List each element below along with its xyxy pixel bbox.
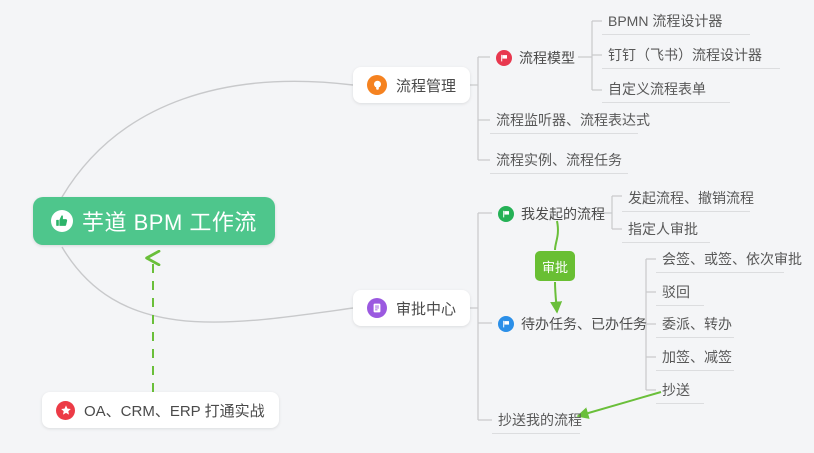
leaf-label-assign-approver: 指定人审批: [628, 219, 698, 239]
branch-label-process-management: 流程管理: [396, 75, 456, 96]
leaf-reject[interactable]: 驳回: [656, 279, 704, 306]
node-label-todo-done-tasks: 待办任务、已办任务: [521, 314, 647, 334]
leaf-label-delegate-transfer: 委派、转办: [662, 314, 732, 334]
leaf-countersign[interactable]: 会签、或签、依次审批: [656, 246, 784, 273]
leaf-label-bpmn-designer: BPMN 流程设计器: [608, 11, 722, 31]
thumbs-up-icon: [51, 210, 73, 232]
leaf-label-countersign: 会签、或签、依次审批: [662, 249, 802, 269]
mindmap-canvas: 芋道 BPM 工作流 OA、CRM、ERP 打通实战 流程管理 流程模型: [0, 0, 814, 453]
node-my-initiated[interactable]: 我发起的流程: [494, 200, 609, 227]
leaf-dingtalk-designer[interactable]: 钉钉（飞书）流程设计器: [602, 42, 780, 69]
annotation-tag-approve[interactable]: 审批: [535, 251, 575, 281]
leaf-add-remove-sign[interactable]: 加签、减签: [656, 344, 734, 371]
note-node[interactable]: OA、CRM、ERP 打通实战: [42, 392, 279, 428]
leaf-assign-approver[interactable]: 指定人审批: [622, 216, 710, 243]
node-label-process-model: 流程模型: [519, 48, 575, 68]
arrow-cc-to-cc-flow: [578, 392, 661, 416]
branch-node-approval-center[interactable]: 审批中心: [353, 290, 470, 326]
flag-icon-blue: [498, 316, 514, 332]
leaf-label-start-cancel-process: 发起流程、撤销流程: [628, 188, 754, 208]
leaf-label-custom-form: 自定义流程表单: [608, 79, 706, 99]
node-process-model[interactable]: 流程模型: [492, 44, 579, 71]
flag-icon-red: [496, 50, 512, 66]
branch-node-process-management[interactable]: 流程管理: [353, 67, 470, 103]
node-todo-done-tasks[interactable]: 待办任务、已办任务: [494, 310, 651, 337]
star-icon: [56, 401, 75, 420]
leaf-cc[interactable]: 抄送: [656, 377, 704, 404]
leaf-label-process-instance: 流程实例、流程任务: [496, 150, 622, 170]
leaf-start-cancel-process[interactable]: 发起流程、撤销流程: [622, 185, 750, 212]
flag-icon-green: [498, 206, 514, 222]
annotation-tag-label: 审批: [542, 257, 568, 276]
leaf-label-reject: 驳回: [662, 282, 690, 302]
arrow-tag-to-todo: [555, 282, 557, 312]
leaf-label-dingtalk-designer: 钉钉（飞书）流程设计器: [608, 45, 762, 65]
leaf-delegate-transfer[interactable]: 委派、转办: [656, 311, 734, 338]
leaf-bpmn-designer[interactable]: BPMN 流程设计器: [602, 8, 750, 35]
connector-root-to-process-management: [62, 81, 353, 197]
leaf-process-instance[interactable]: 流程实例、流程任务: [490, 147, 628, 174]
leaf-label-cc: 抄送: [662, 380, 690, 400]
node-label-my-initiated: 我发起的流程: [521, 204, 605, 224]
root-label: 芋道 BPM 工作流: [82, 205, 257, 237]
note-label: OA、CRM、ERP 打通实战: [84, 400, 265, 421]
leaf-custom-form[interactable]: 自定义流程表单: [602, 76, 730, 103]
leaf-label-process-listener: 流程监听器、流程表达式: [496, 110, 650, 130]
leaf-process-listener[interactable]: 流程监听器、流程表达式: [490, 107, 638, 134]
leaf-cc-to-me[interactable]: 抄送我的流程: [492, 407, 580, 434]
leaf-label-cc-to-me: 抄送我的流程: [498, 410, 582, 430]
branch-label-approval-center: 审批中心: [396, 298, 456, 319]
connector-root-to-approval-center: [62, 247, 353, 322]
document-icon: [367, 298, 387, 318]
lightbulb-icon: [367, 75, 387, 95]
root-node[interactable]: 芋道 BPM 工作流: [33, 197, 275, 245]
leaf-label-add-remove-sign: 加签、减签: [662, 347, 732, 367]
